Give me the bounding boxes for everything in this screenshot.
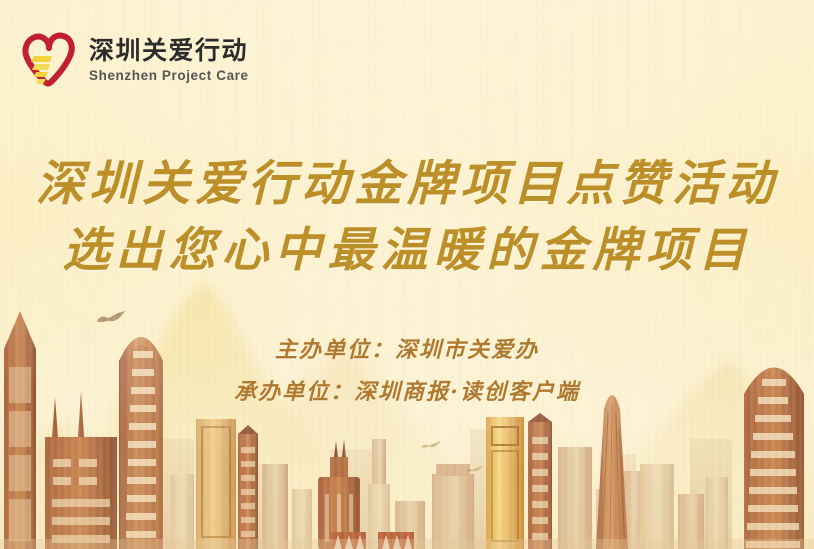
brand-logo-text: 深圳关爱行动 Shenzhen Project Care: [89, 36, 249, 86]
brand-name-en: Shenzhen Project Care: [89, 66, 249, 86]
brand-name-cn: 深圳关爱行动: [89, 38, 249, 64]
heart-logo-icon: [18, 32, 80, 90]
host-unit-line: 主办单位：深圳市关爱办: [0, 330, 814, 372]
headline-line-1: 深圳关爱行动金牌项目点赞活动: [0, 150, 814, 218]
poster-headline: 深圳关爱行动金牌项目点赞活动 选出您心中最温暖的金牌项目: [0, 150, 814, 285]
brand-logo[interactable]: 深圳关爱行动 Shenzhen Project Care: [18, 30, 249, 92]
organizer-unit-line: 承办单位：深圳商报·读创客户端: [0, 372, 814, 414]
headline-line-2: 选出您心中最温暖的金牌项目: [0, 218, 814, 285]
poster-canvas: 深圳关爱行动 Shenzhen Project Care 深圳关爱行动金牌项目点…: [0, 0, 814, 549]
organizer-block: 主办单位：深圳市关爱办 承办单位：深圳商报·读创客户端: [0, 330, 814, 414]
shenzhen-skyline-silhouette: [0, 289, 814, 549]
